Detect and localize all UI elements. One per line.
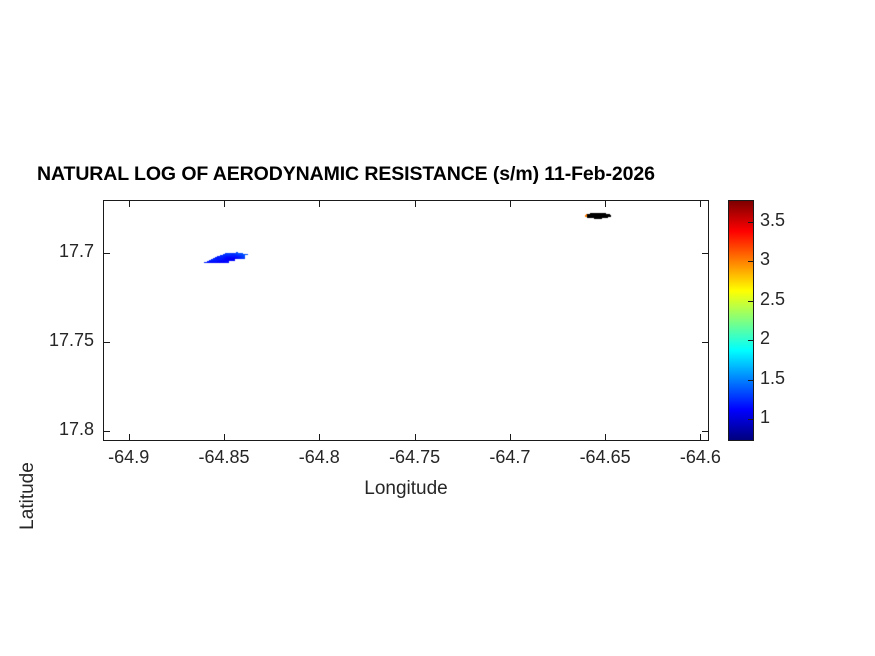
x-tick-bottom (129, 434, 130, 441)
raster-heatmap (104, 201, 708, 440)
x-tick-label: -64.6 (650, 447, 750, 468)
y-tick-right (702, 342, 709, 343)
x-tick-top (700, 200, 701, 207)
y-tick-left (103, 253, 110, 254)
x-tick-bottom (605, 434, 606, 441)
colorbar-tick (748, 380, 754, 381)
map-axes[interactable] (103, 200, 709, 441)
colorbar-tick-label: 2.5 (760, 289, 785, 310)
x-tick-bottom (700, 434, 701, 441)
y-tick-label: 17.7 (0, 241, 94, 262)
y-tick-left (103, 342, 110, 343)
x-tick-bottom (510, 434, 511, 441)
colorbar-gradient (729, 201, 753, 440)
colorbar-tick (748, 222, 754, 223)
colorbar-tick (748, 419, 754, 420)
x-tick-label: -64.75 (365, 447, 465, 468)
colorbar-tick-label: 2 (760, 328, 770, 349)
y-tick-label: 17.75 (0, 330, 94, 351)
x-axis-label: Longitude (103, 478, 709, 500)
colorbar-tick-label: 3 (760, 249, 770, 270)
x-tick-top (224, 200, 225, 207)
colorbar-tick (748, 340, 754, 341)
x-tick-top (415, 200, 416, 207)
x-tick-bottom (319, 434, 320, 441)
y-tick-label: 17.8 (0, 419, 94, 440)
x-tick-top (510, 200, 511, 207)
page-title: NATURAL LOG OF AERODYNAMIC RESISTANCE (s… (37, 163, 655, 186)
x-tick-label: -64.9 (79, 447, 179, 468)
y-tick-left (103, 431, 110, 432)
x-tick-label: -64.7 (460, 447, 560, 468)
x-tick-bottom (224, 434, 225, 441)
x-tick-label: -64.65 (555, 447, 655, 468)
colorbar[interactable] (728, 200, 754, 441)
y-axis-label: Latitude (17, 426, 39, 566)
x-tick-top (319, 200, 320, 207)
colorbar-tick (748, 261, 754, 262)
colorbar-tick-label: 1 (760, 407, 770, 428)
colorbar-tick-label: 1.5 (760, 368, 785, 389)
x-tick-label: -64.8 (269, 447, 369, 468)
figure-canvas: NATURAL LOG OF AERODYNAMIC RESISTANCE (s… (0, 0, 875, 656)
colorbar-tick-label: 3.5 (760, 210, 785, 231)
x-tick-top (129, 200, 130, 207)
y-axis-label-wrap: Latitude (0, 190, 96, 450)
x-tick-top (605, 200, 606, 207)
colorbar-tick (748, 301, 754, 302)
y-tick-right (702, 253, 709, 254)
x-tick-bottom (415, 434, 416, 441)
y-tick-right (702, 431, 709, 432)
x-tick-label: -64.85 (174, 447, 274, 468)
